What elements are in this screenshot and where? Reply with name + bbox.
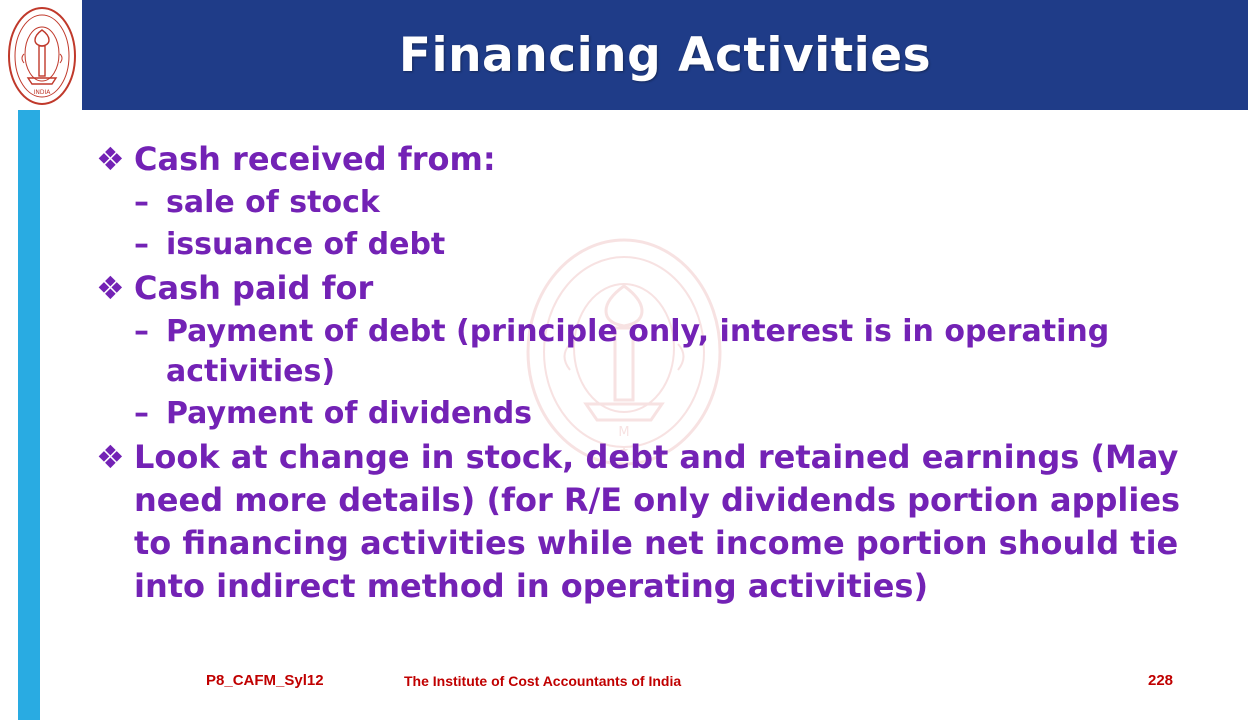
bullet-marker-diamond-icon: ❖ (96, 436, 134, 479)
left-white-bar (0, 110, 18, 720)
bullet-text: Cash received from: (134, 138, 1206, 181)
bullet-item: – sale of stock (134, 183, 1206, 223)
svg-text:INDIA: INDIA (34, 89, 52, 96)
footer-institute-name: The Institute of Cost Accountants of Ind… (404, 673, 681, 689)
page-title: Financing Activities (82, 0, 1248, 110)
slide-body: ❖ Cash received from: – sale of stock – … (96, 138, 1206, 611)
bullet-marker-dash-icon: – (134, 394, 166, 434)
bullet-text: issuance of debt (166, 225, 1206, 265)
slide-footer: P8_CAFM_Syl12 The Institute of Cost Acco… (0, 672, 1248, 706)
bullet-text: Payment of dividends (166, 394, 1206, 434)
bullet-text: Cash paid for (134, 267, 1206, 310)
bullet-item: ❖ Cash paid for (96, 267, 1206, 310)
slide: Financing Activities INDIA M ★ ❖ Cash re… (0, 0, 1248, 720)
bullet-marker-dash-icon: – (134, 312, 166, 352)
institute-logo-icon: INDIA (6, 4, 78, 108)
footer-page-number: 228 (1148, 672, 1173, 689)
bullet-item: – Payment of debt (principle only, inter… (134, 312, 1206, 392)
footer-subject-code: P8_CAFM_Syl12 (206, 672, 324, 689)
bullet-text: Look at change in stock, debt and retain… (134, 436, 1206, 609)
bullet-item: – issuance of debt (134, 225, 1206, 265)
left-cyan-accent-bar (18, 110, 40, 720)
bullet-marker-diamond-icon: ❖ (96, 267, 134, 310)
bullet-text: sale of stock (166, 183, 1206, 223)
bullet-text: Payment of debt (principle only, interes… (166, 312, 1206, 392)
bullet-item: ❖ Look at change in stock, debt and reta… (96, 436, 1206, 609)
bullet-marker-diamond-icon: ❖ (96, 138, 134, 181)
bullet-item: ❖ Cash received from: (96, 138, 1206, 181)
bullet-marker-dash-icon: – (134, 225, 166, 265)
bullet-marker-dash-icon: – (134, 183, 166, 223)
bullet-item: – Payment of dividends (134, 394, 1206, 434)
